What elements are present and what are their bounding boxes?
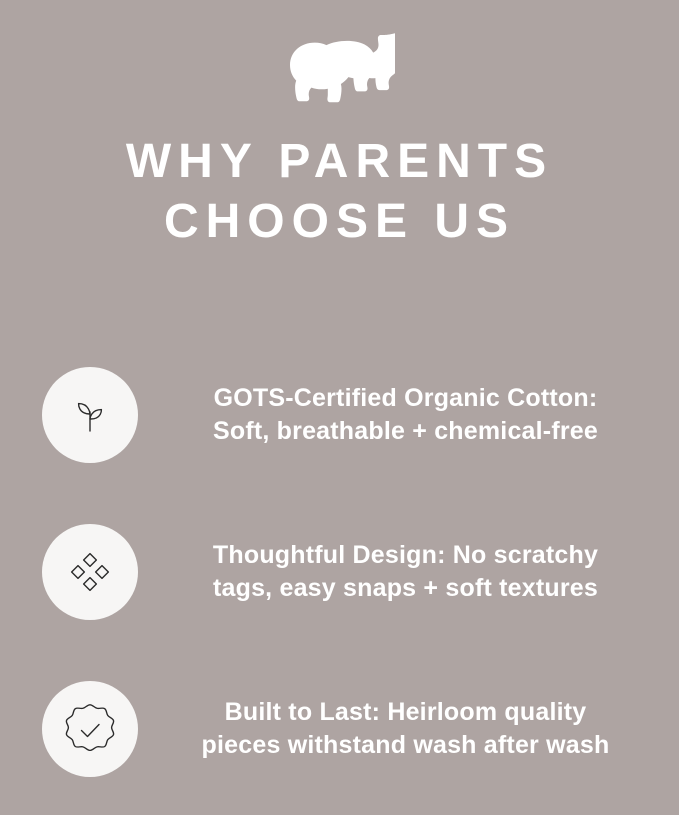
brand-logo — [280, 30, 400, 112]
feature-line-2: tags, easy snaps + soft textures — [168, 572, 644, 605]
feature-text: Built to Last: Heirloom quality pieces w… — [168, 696, 650, 762]
feature-line-2: Soft, breathable + chemical-free — [168, 415, 644, 448]
headline-line-2: CHOOSE US — [40, 192, 640, 252]
feature-row: GOTS-Certified Organic Cotton: Soft, bre… — [30, 336, 650, 493]
headline-line-1: WHY PARENTS — [40, 132, 640, 192]
feature-line-1: GOTS-Certified Organic Cotton: — [168, 382, 644, 415]
feature-text: GOTS-Certified Organic Cotton: Soft, bre… — [168, 382, 650, 448]
feature-row: Built to Last: Heirloom quality pieces w… — [30, 650, 650, 807]
feature-line-1: Built to Last: Heirloom quality — [168, 696, 644, 729]
feature-line-1: Thoughtful Design: No scratchy — [168, 539, 644, 572]
badge-check-icon — [42, 681, 138, 777]
four-diamonds-icon — [42, 524, 138, 620]
feature-row: Thoughtful Design: No scratchy tags, eas… — [30, 493, 650, 650]
sprout-icon — [42, 367, 138, 463]
feature-text: Thoughtful Design: No scratchy tags, eas… — [168, 539, 650, 605]
page-title: WHY PARENTS CHOOSE US — [40, 132, 640, 252]
why-parents-choose-us-poster: WHY PARENTS CHOOSE US GOTS-Certified Org… — [0, 0, 679, 815]
feature-list: GOTS-Certified Organic Cotton: Soft, bre… — [30, 336, 650, 807]
feature-line-2: pieces withstand wash after wash — [168, 729, 644, 762]
